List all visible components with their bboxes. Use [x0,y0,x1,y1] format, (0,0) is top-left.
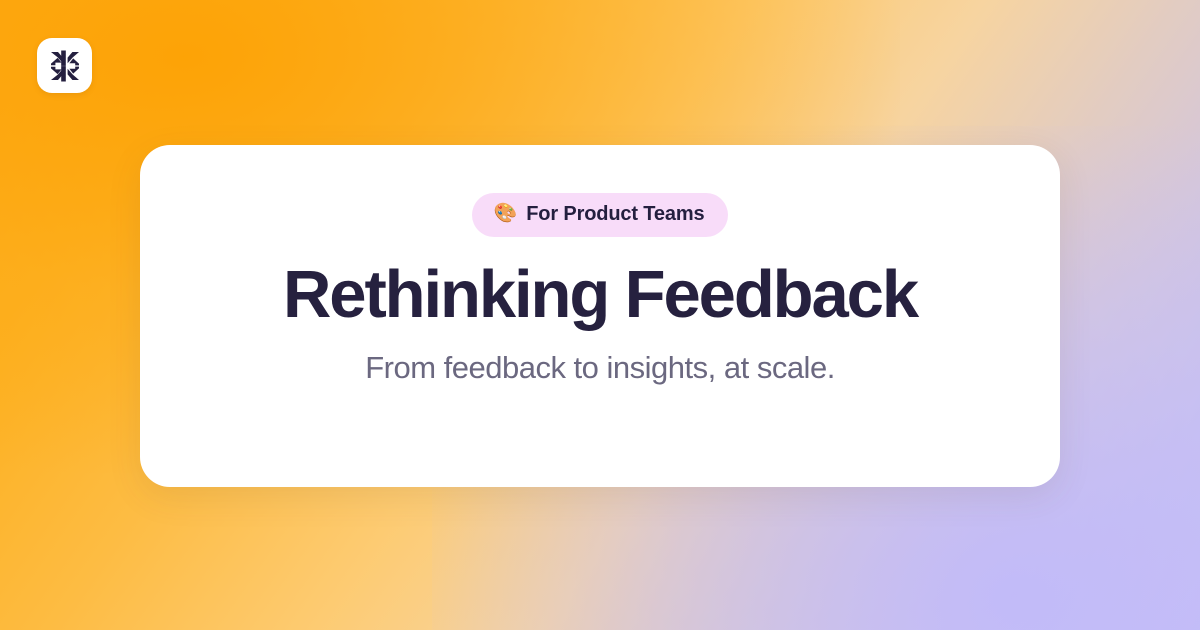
brand-logo-tile[interactable] [37,38,92,93]
page-subtitle: From feedback to insights, at scale. [365,350,835,386]
badge-label: For Product Teams [526,203,704,226]
hero-card: 🎨 For Product Teams Rethinking Feedback … [140,145,1060,487]
status-badge: 🎨 For Product Teams [472,193,729,237]
page-title: Rethinking Feedback [283,259,917,330]
artist-palette-emoji: 🎨 [494,204,518,223]
brand-logo-mark-icon [49,49,81,83]
